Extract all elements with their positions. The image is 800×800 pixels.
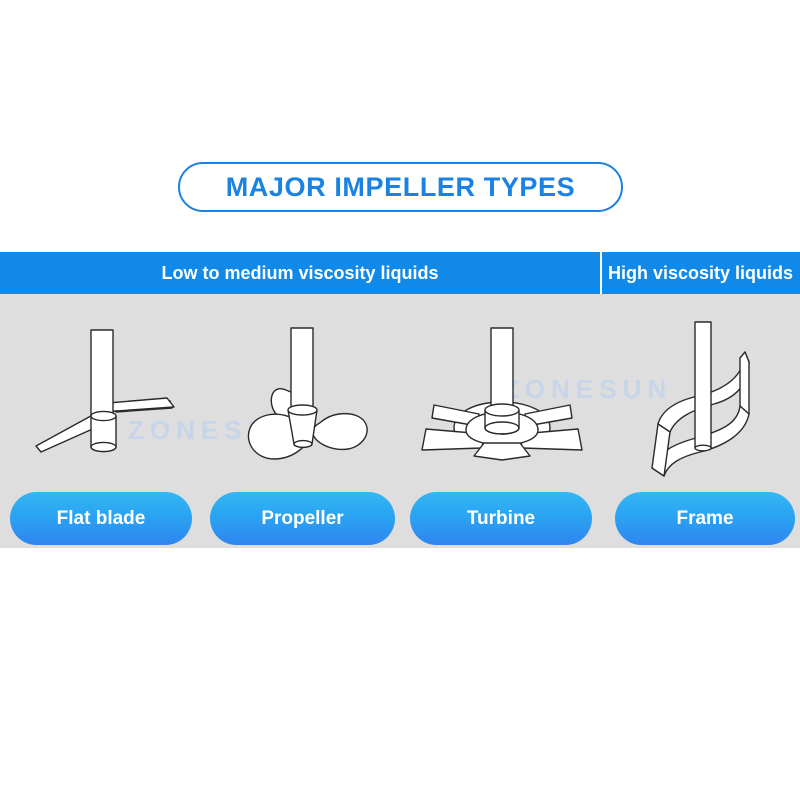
- propeller-impeller-icon: [222, 300, 402, 490]
- page-title: MAJOR IMPELLER TYPES: [226, 174, 576, 201]
- header-cell-low-to-medium-viscosity: Low to medium viscosity liquids: [0, 252, 600, 294]
- impeller-label-frame: Frame: [676, 509, 733, 528]
- header-cell-high-viscosity: High viscosity liquids: [601, 252, 800, 294]
- header-label-low-to-medium-viscosity: Low to medium viscosity liquids: [161, 264, 438, 282]
- header-label-high-viscosity: High viscosity liquids: [608, 264, 793, 282]
- impeller-label-pill-frame[interactable]: Frame: [615, 492, 795, 545]
- impeller-label-turbine: Turbine: [467, 509, 535, 528]
- impeller-label-pill-propeller[interactable]: Propeller: [210, 492, 395, 545]
- impeller-label-pill-flat-blade[interactable]: Flat blade: [10, 492, 192, 545]
- impeller-label-pill-turbine[interactable]: Turbine: [410, 492, 592, 545]
- frame-impeller-icon: [612, 300, 798, 490]
- impeller-label-flat-blade: Flat blade: [57, 509, 146, 528]
- turbine-impeller-icon: [404, 300, 600, 490]
- impeller-types-infographic: MAJOR IMPELLER TYPES Low to medium visco…: [0, 0, 800, 800]
- page-title-pill: MAJOR IMPELLER TYPES: [178, 162, 623, 212]
- viscosity-header-bar: Low to medium viscosity liquids High vis…: [0, 252, 800, 294]
- impeller-label-propeller: Propeller: [261, 509, 343, 528]
- flat-blade-impeller-icon: [12, 300, 210, 490]
